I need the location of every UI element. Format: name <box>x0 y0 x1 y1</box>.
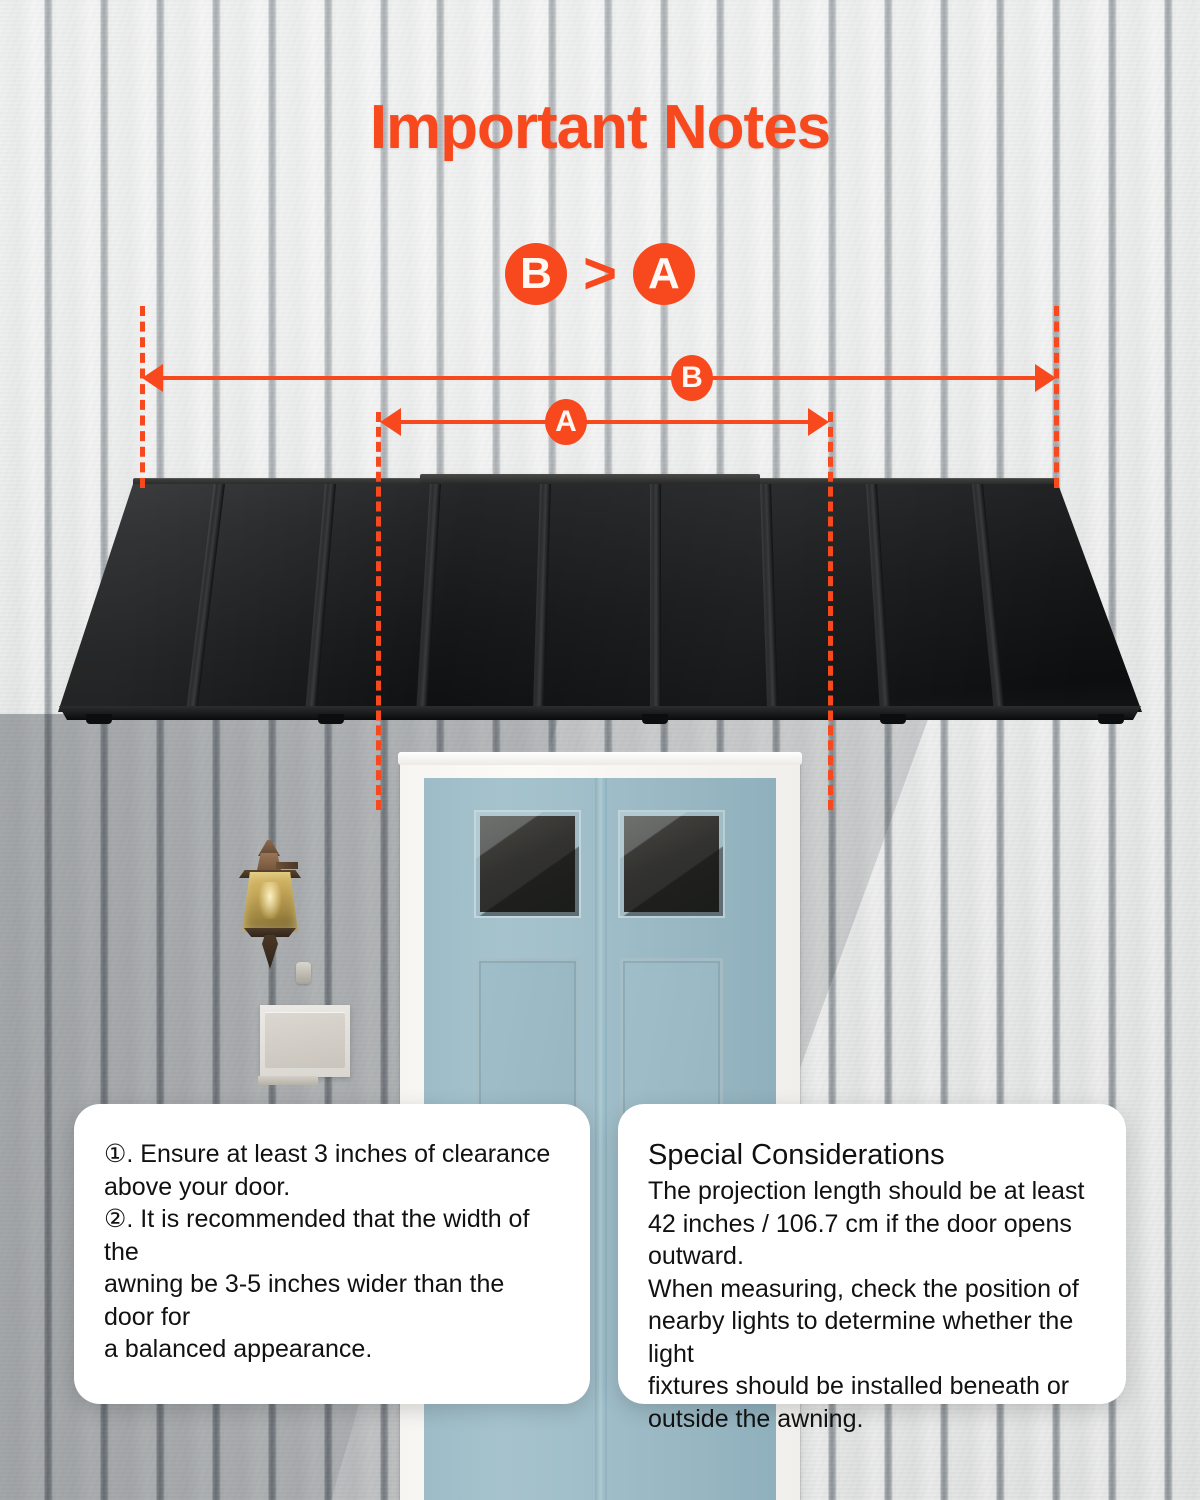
door-glass-pane-right <box>620 812 723 916</box>
mailbox-slot <box>258 1076 318 1085</box>
awning-bracket <box>318 714 344 724</box>
awning-seam <box>650 484 661 712</box>
awning-canopy <box>0 484 1200 726</box>
consideration-line: fixtures should be installed beneath or <box>648 1370 1096 1403</box>
note-line: ②. It is recommended that the width of t… <box>104 1203 560 1268</box>
consideration-line: When measuring, check the position of <box>648 1273 1096 1306</box>
consideration-line: outside the awning. <box>648 1403 1096 1436</box>
metal-awning <box>0 470 1200 735</box>
consideration-line: The projection length should be at least <box>648 1175 1096 1208</box>
mailbox-lid <box>265 1012 345 1068</box>
awning-bracket <box>86 714 112 724</box>
lantern-finial <box>262 935 278 969</box>
lantern-arm <box>276 862 298 869</box>
card-heading: Special Considerations <box>648 1138 1096 1173</box>
note-line: ①. Ensure at least 3 inches of clearance <box>104 1138 560 1171</box>
consideration-line: 42 inches / 106.7 cm if the door opens <box>648 1208 1096 1241</box>
wall-lantern-icon <box>236 840 308 970</box>
awning-bracket <box>880 714 906 724</box>
note-line: awning be 3-5 inches wider than the door… <box>104 1268 560 1333</box>
awning-bracket <box>642 714 668 724</box>
door-frame-header <box>398 752 802 765</box>
note-line: a balanced appearance. <box>104 1333 560 1366</box>
lantern-glass <box>242 872 298 932</box>
note-line: above your door. <box>104 1171 560 1204</box>
door-mullion <box>595 778 607 1500</box>
consideration-line: outward. <box>648 1240 1096 1273</box>
infographic-stage: Important Notes B > A B A ①. Ensure at l… <box>0 0 1200 1500</box>
consideration-line: nearby lights to determine whether the l… <box>648 1305 1096 1370</box>
door-glass-pane-left <box>476 812 579 916</box>
awning-mounting-rail-center <box>420 474 760 484</box>
special-considerations-card: Special Considerations The projection le… <box>618 1104 1126 1404</box>
doorbell-icon <box>296 962 311 984</box>
awning-bracket <box>1098 714 1124 724</box>
awning-front-edge <box>0 706 1200 720</box>
notes-card: ①. Ensure at least 3 inches of clearance… <box>74 1104 590 1404</box>
